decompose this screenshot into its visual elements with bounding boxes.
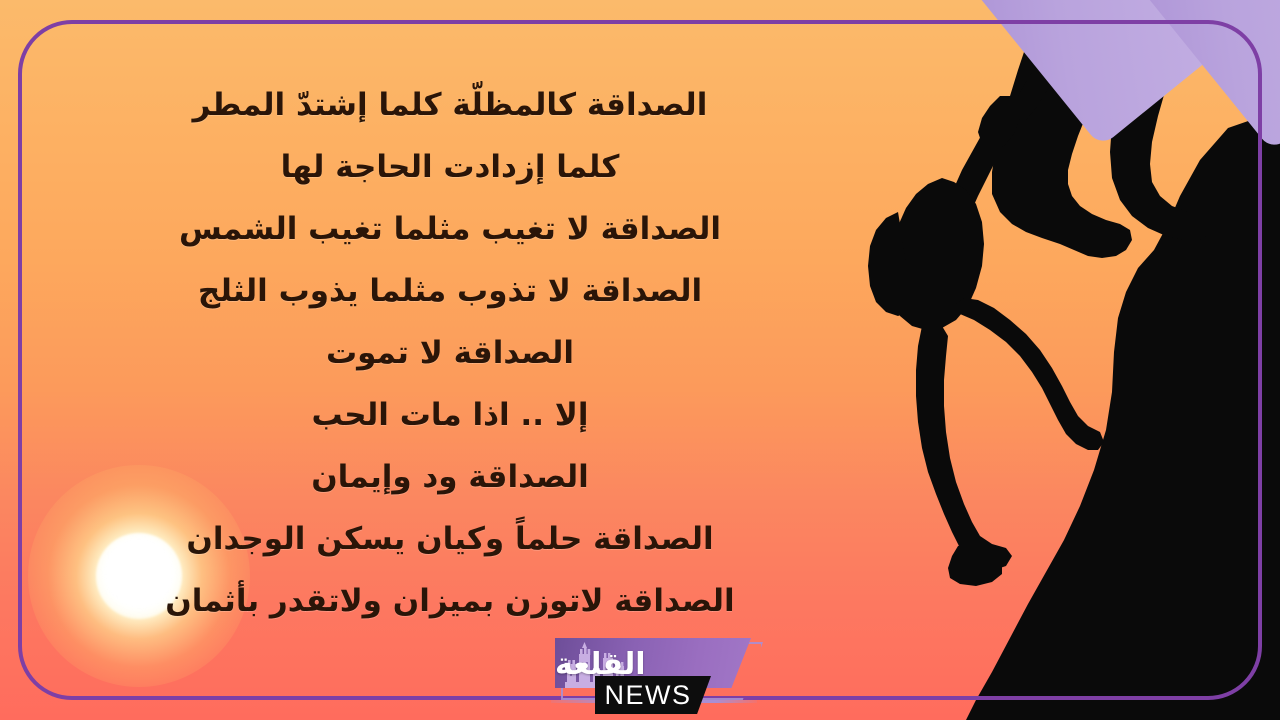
quote-line: الصداقة حلماً وكيان يسكن الوجدان xyxy=(0,508,900,570)
climber-helper-leg xyxy=(1110,0,1212,240)
climber-head xyxy=(914,176,970,236)
channel-logo-watermark: القلعة NEWS xyxy=(549,636,761,720)
climber-bent-leg xyxy=(956,298,1104,450)
quote-line: إلا .. اذا مات الحب xyxy=(0,384,900,446)
climber-helper-arm xyxy=(1010,12,1088,124)
quote-line: الصداقة ود وإيمان xyxy=(0,446,900,508)
quote-line: الصداقة لاتوزن بميزان ولاتقدر بأثمان xyxy=(0,570,900,632)
quote-line: الصداقة لا تذوب مثلما يذوب الثلج xyxy=(0,260,900,322)
quote-card: الصداقة كالمظلّة كلما إشتدّ المطر كلما إ… xyxy=(0,0,1280,720)
purple-diagonal-bar-2 xyxy=(1072,0,1280,151)
climber-boot xyxy=(948,544,1002,586)
quote-line: الصداقة كالمظلّة كلما إشتدّ المطر xyxy=(0,74,900,136)
quote-line: كلما إزدادت الحاجة لها xyxy=(0,136,900,198)
climber-dangling-leg xyxy=(916,326,1012,570)
climber-helper-silhouette xyxy=(992,0,1140,258)
quote-text-block: الصداقة كالمظلّة كلما إشتدّ المطر كلما إ… xyxy=(0,74,900,632)
purple-diagonal-bar-1 xyxy=(912,0,1242,147)
cliff-rock-silhouette xyxy=(966,110,1280,720)
climbers-silhouette-artwork xyxy=(850,0,1280,720)
quote-line: الصداقة لا تغيب مثلما تغيب الشمس xyxy=(0,198,900,260)
logo-brand-latin: NEWS xyxy=(595,676,711,714)
hands-grip xyxy=(978,96,1020,150)
quote-line: الصداقة لا تموت xyxy=(0,322,900,384)
climber-torso xyxy=(888,178,984,330)
climber-raised-arm xyxy=(946,116,1010,228)
